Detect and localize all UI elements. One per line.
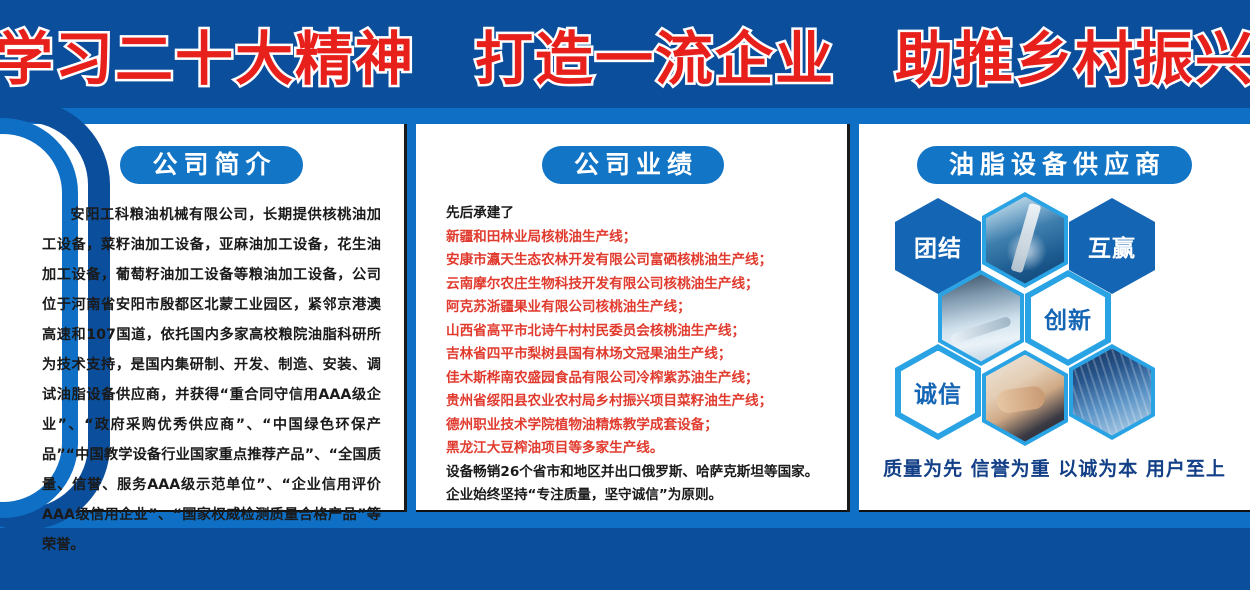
photo-fill [986,355,1064,442]
skyscraper-photo [1073,349,1151,436]
panel-separator-1 [407,124,416,512]
performance-lead: 先后承建了 [446,202,828,226]
aircraft-carrier-photo [986,197,1064,284]
performance-project-item: 阿克苏浙疆果业有限公司核桃油生产线； [446,296,828,320]
performance-project-item: 云南摩尔农庄生物科技开发有限公司核桃油生产线； [446,273,828,297]
hexagon-handshake-photo [982,350,1068,446]
hexagon-skyscraper-photo [1069,344,1155,440]
performance-footer-lines: 设备畅销26个省市和地区并出口俄罗斯、哈萨克斯坦等国家。企业始终坚持“专注质量，… [446,461,828,508]
performance-project-item: 佳木斯桦南农盛园食品有限公司冷榨紫苏油生产线； [446,367,828,391]
panel-company-performance: 公司业绩 先后承建了 新疆和田林业局核桃油生产线；安康市瀛天生态农林开发有限公司… [416,124,850,512]
panel-left-title-badge: 公司简介 [120,146,302,184]
performance-footer-line: 企业始终坚持“专注质量，坚守诚信”为原则。 [446,484,828,508]
performance-project-item: 安康市瀛天生态农林开发有限公司富硒核桃油生产线； [446,249,828,273]
hexagon-label: 团结 [914,229,962,263]
photo-fill [1073,349,1151,436]
hexagon-label: 互赢 [1088,229,1136,263]
handshake-photo [986,355,1064,442]
poster-board: 学习二十大精神 打造一流企业 助推乡村振兴 公司简介 安阳工科粮油机械有限公司，… [0,0,1250,590]
performance-project-item: 吉林省四平市梨树县国有林场文冠果油生产线； [446,343,828,367]
hexagon-inner: 创新 [1031,277,1105,360]
performance-project-item: 新疆和田林业局核桃油生产线； [446,226,828,250]
panel-company-profile: 公司简介 安阳工科粮油机械有限公司，长期提供核桃油加工设备，菜籽油加工设备，亚麻… [16,124,407,512]
hexagon-aircraft-carrier-photo [982,192,1068,288]
hexagon-cluster: 团结互赢创新诚信 [859,192,1250,450]
panel-right-title-badge: 油脂设备供应商 [917,146,1192,184]
hexagon-label: 诚信 [914,375,962,409]
poster-title: 学习二十大精神 打造一流企业 助推乡村振兴 [0,12,1250,96]
photo-fill [942,275,1020,362]
performance-footer-line: 设备畅销26个省市和地区并出口俄罗斯、哈萨克斯坦等国家。 [446,461,828,485]
hexagon-label: 创新 [1044,301,1092,335]
frame-bar-top [0,108,1250,124]
performance-project-list: 新疆和田林业局核桃油生产线；安康市瀛天生态农林开发有限公司富硒核桃油生产线；云南… [446,226,828,461]
panel-separator-2 [850,124,859,512]
hexagon-inner: 诚信 [901,351,975,434]
airplane-success-photo [942,275,1020,362]
performance-project-item: 德州职业技术学院植物油精炼教学成套设备； [446,414,828,438]
company-profile-paragraph: 安阳工科粮油机械有限公司，长期提供核桃油加工设备，菜籽油加工设备，亚麻油加工设备… [42,200,381,560]
performance-project-item: 黑龙江大豆榨油项目等多家生产线。 [446,437,828,461]
supplier-slogan: 质量为先 信誉为重 以诚为本 用户至上 [859,454,1250,481]
panel-supplier: 油脂设备供应商 团结互赢创新诚信 质量为先 信誉为重 以诚为本 用户至上 [859,124,1250,512]
photo-fill [986,197,1064,284]
panel-mid-title-badge: 公司业绩 [542,146,724,184]
performance-project-item: 贵州省绥阳县农业农村局乡村振兴项目菜籽油生产线； [446,390,828,414]
poster-header: 学习二十大精神 打造一流企业 助推乡村振兴 [0,0,1250,108]
performance-body: 先后承建了 新疆和田林业局核桃油生产线；安康市瀛天生态农林开发有限公司富硒核桃油… [446,202,828,508]
performance-project-item: 山西省高平市北诗午村村民委员会核桃油生产线； [446,320,828,344]
